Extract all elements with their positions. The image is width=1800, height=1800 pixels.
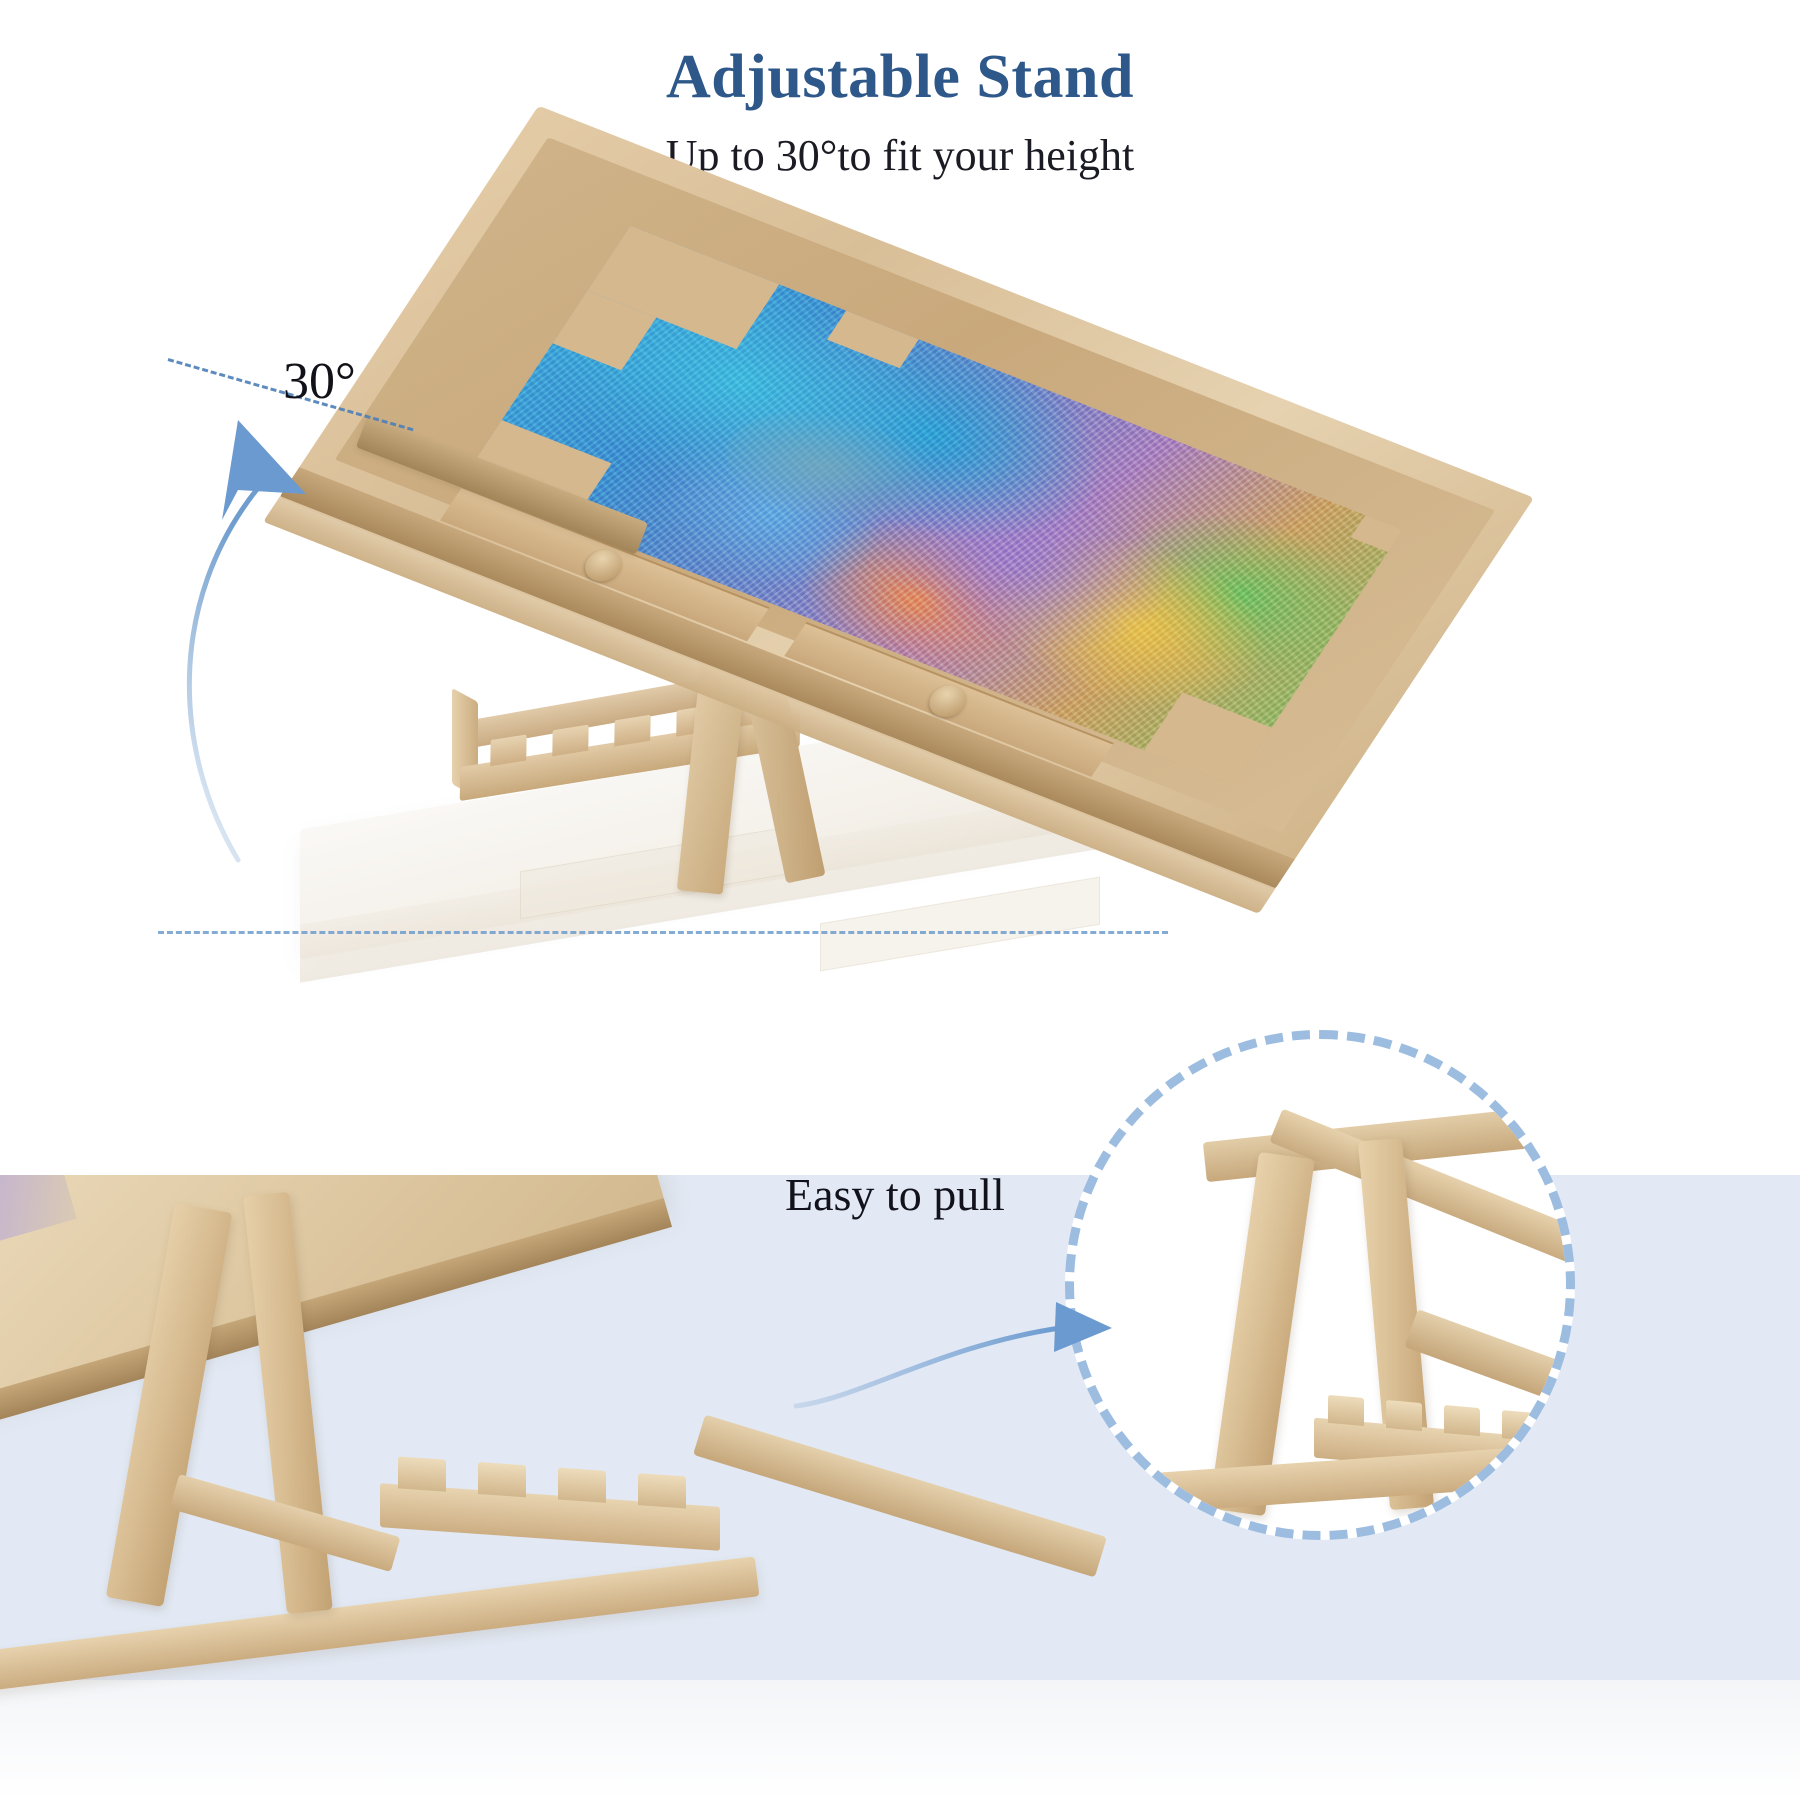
closeup-puzzle-artwork [0, 1175, 77, 1274]
inset-corner-rail [1404, 1309, 1575, 1429]
notch-step [1386, 1400, 1422, 1431]
notch-step [1444, 1405, 1480, 1436]
easy-to-pull-arrow-icon [790, 1280, 1140, 1410]
closeup-board-lip [0, 1198, 672, 1442]
closeup-inset-circle [1065, 1030, 1575, 1540]
notch-step [1328, 1395, 1364, 1426]
notch-step [552, 725, 588, 757]
page-subtitle: Up to 30°to fit your height [0, 130, 1800, 181]
puzzle-missing-region [1351, 515, 1403, 552]
top-panel: Adjustable Stand Up to 30°to fit your he… [0, 0, 1800, 1175]
inset-leg-a [1209, 1152, 1315, 1516]
easy-to-pull-label: Easy to pull [785, 1168, 1005, 1221]
inset-content [1074, 1039, 1566, 1531]
notch-step [478, 1462, 526, 1497]
notch-step [638, 1473, 686, 1508]
closeup-corner-rail [693, 1415, 1107, 1578]
horizontal-baseline [158, 931, 1168, 934]
drawer-ghost-right [820, 877, 1100, 972]
notch-step [490, 734, 526, 766]
puzzle-missing-region [1144, 692, 1272, 785]
notch-step [398, 1456, 446, 1491]
closeup-board [0, 1175, 665, 1417]
closeup-notched-rail [380, 1483, 720, 1551]
puzzle-missing-region [827, 311, 919, 369]
notch-step [614, 715, 650, 747]
notch-step [558, 1468, 606, 1503]
angle-arc-icon [120, 390, 480, 870]
floor-surface [0, 1680, 1800, 1800]
page-title: Adjustable Stand [0, 42, 1800, 113]
dolphin-motif [703, 392, 962, 546]
notch-step [1502, 1410, 1538, 1441]
